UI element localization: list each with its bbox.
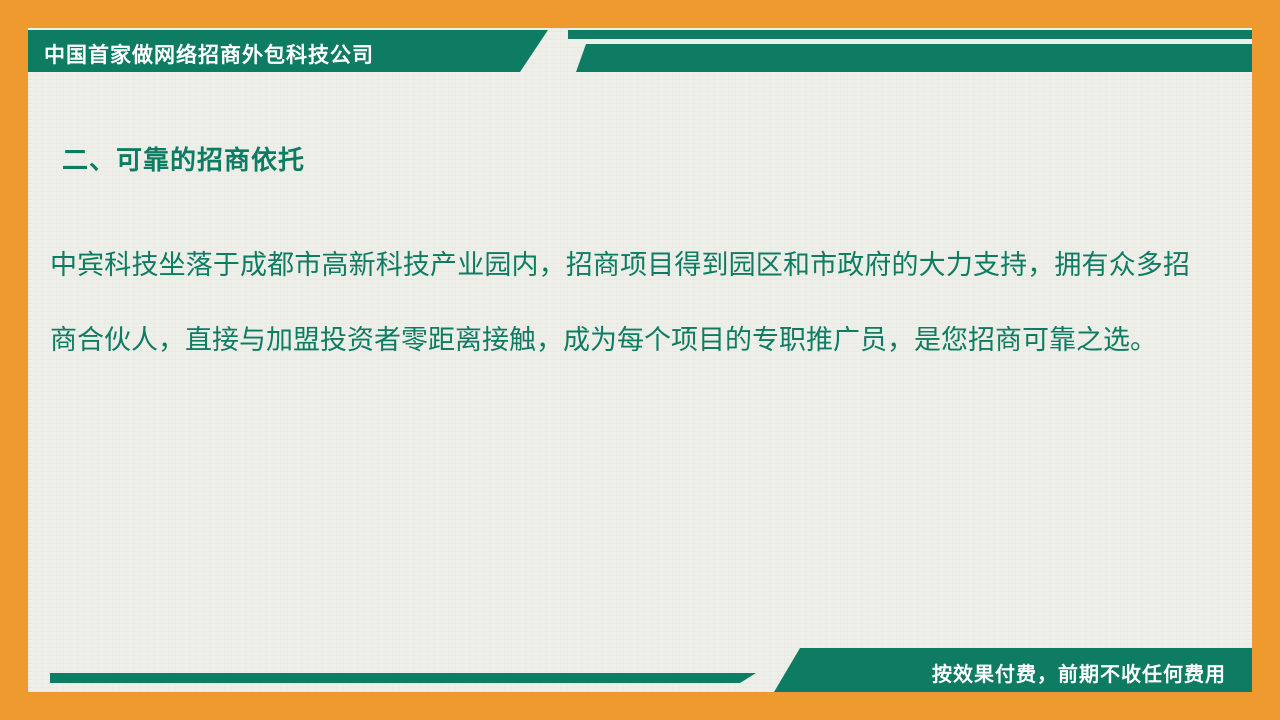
section-heading: 二、可靠的招商依托 (62, 140, 305, 177)
footer-band: 按效果付费，前期不收任何费用 (28, 648, 1252, 692)
header-band: 中国首家做网络招商外包科技公司 (28, 30, 1252, 72)
header-accent-gap (568, 39, 1252, 44)
footer-accent-bar (50, 673, 756, 683)
footer-note: 按效果付费，前期不收任何费用 (932, 658, 1226, 687)
slide-root: 中国首家做网络招商外包科技公司 二、可靠的招商依托 中宾科技坐落于成都市高新科技… (0, 0, 1280, 720)
header-accent-bar-bottom (576, 44, 1252, 72)
body-paragraph: 中宾科技坐落于成都市高新科技产业园内，招商项目得到园区和市政府的大力支持，拥有众… (50, 228, 1190, 378)
header-accent-bar-top (568, 30, 1252, 39)
header-title: 中国首家做网络招商外包科技公司 (44, 39, 374, 69)
